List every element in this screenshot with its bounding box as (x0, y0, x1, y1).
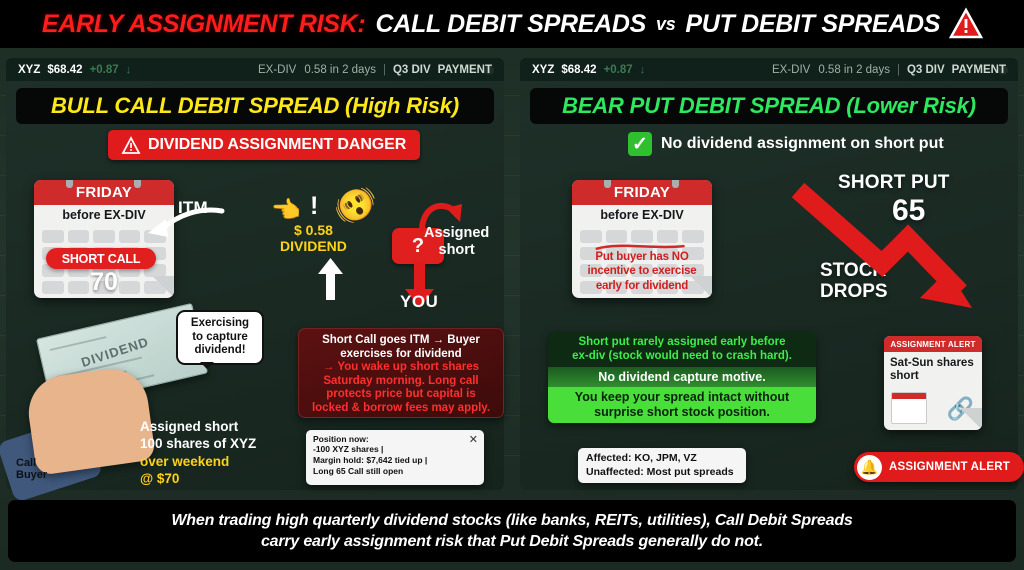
ticker-symbol: XYZ (532, 64, 554, 76)
assigned-short-label: Assigned short (424, 225, 489, 259)
assignment-alert-body: Sat-Sun shares short (884, 352, 982, 388)
ticker-price: $68.42 (47, 64, 82, 76)
assignment-alert-pill-label: ASSIGNMENT ALERT (889, 461, 1010, 473)
warning-triangle-icon (122, 137, 140, 154)
affected-tickers-box: Affected: KO, JPM, VZ Unaffected: Most p… (578, 448, 746, 483)
page-fold-icon (152, 276, 174, 298)
mini-calendar-icon (891, 392, 927, 424)
question-mark: ? (412, 235, 424, 258)
warning-triangle-icon (950, 9, 982, 39)
page-fold-icon (960, 408, 982, 430)
greenbox-top: Short put rarely assigned early before e… (548, 332, 816, 367)
alert-line-2: short (890, 370, 976, 383)
exclamation-mark: ! (310, 192, 318, 221)
dividend-word: DIVIDEND (280, 238, 347, 254)
left-ticker-bar: XYZ $68.42 +0.87 ↓ EX-DIV 0.58 in 2 days… (6, 58, 504, 82)
put-safety-explanation: Short put rarely assigned early before e… (548, 332, 816, 423)
page-fold-icon (690, 276, 712, 298)
right-ticker-bar: XYZ $68.42 +0.87 ↓ EX-DIV 0.58 in 2 days… (520, 58, 1018, 82)
stock-drop-arrow-icon (790, 180, 980, 320)
redbox-line-2: exercises for dividend (305, 348, 497, 362)
left-header-label: BULL CALL DEBIT SPREAD (High Risk) (51, 93, 459, 119)
redbox-line-5: protects price but capital is (305, 388, 497, 402)
calendar-day: FRIDAY (572, 180, 712, 205)
ticker-exdiv-label: EX-DIV (258, 64, 296, 76)
ticker-separator: | (383, 64, 386, 76)
assignment-alert-title: ASSIGNMENT ALERT (884, 336, 982, 352)
unaffected-line: Unaffected: Most put spreads (586, 466, 738, 480)
alert-line-1: Sat-Sun shares (890, 357, 976, 370)
footer-line-2: carry early assignment risk that Put Deb… (261, 533, 763, 550)
greenbox-middle: No dividend capture motive. (548, 367, 816, 387)
ticker-status-dot-icon (484, 65, 494, 75)
call-buyer-line1: Call (16, 458, 47, 470)
footer-caption: When trading high quarterly dividend sto… (8, 500, 1016, 562)
bell-icon: 🔔 (857, 455, 882, 480)
footer-text: When trading high quarterly dividend sto… (171, 510, 852, 552)
ticker-exdiv-group: EX-DIV 0.58 in 2 days (772, 64, 890, 76)
redbox-line-4: Saturday morning. Long call (305, 375, 497, 389)
greenbox-line-1: Short put rarely assigned early before (554, 336, 810, 350)
redbox-line-6: locked & borrow fees may apply. (305, 402, 497, 416)
check-mark-icon: ✓ (628, 132, 652, 156)
assigned-line-1: Assigned short (140, 418, 256, 435)
put-note-line-3: early for dividend (578, 279, 706, 293)
title-red-text: EARLY ASSIGNMENT RISK: (42, 10, 366, 39)
greenbox-line-4: You keep your spread intact without (554, 390, 810, 405)
position-line-3: Long 65 Call still open (313, 466, 477, 477)
ticker-exdiv-value: 0.58 in 2 days (304, 64, 376, 76)
ticker-exdiv-group: EX-DIV 0.58 in 2 days (258, 64, 376, 76)
itm-label: ITM (178, 198, 208, 218)
right-panel-header: BEAR PUT DEBIT SPREAD (Lower Risk) (530, 88, 1008, 124)
position-line-2: Margin hold: $7,642 tied up | (313, 455, 477, 466)
assigned-short-summary: Assigned short 100 shares of XYZ over we… (140, 418, 256, 487)
close-icon[interactable]: ✕ (469, 433, 478, 446)
calendar-subtitle: before EX-DIV (572, 208, 712, 222)
assigned-short-line1: Assigned (424, 225, 489, 242)
ticker-exdiv-label: EX-DIV (772, 64, 810, 76)
you-label: YOU (400, 292, 438, 312)
greenbox-bottom: You keep your spread intact without surp… (548, 387, 816, 423)
redbox-line-1: Short Call goes ITM → Buyer (305, 334, 497, 348)
no-assignment-label: No dividend assignment on short put (661, 135, 944, 153)
assigned-line-2: 100 shares of XYZ (140, 435, 256, 452)
assigned-short-line2: short (424, 242, 489, 259)
ticker-change: +0.87 (604, 64, 633, 76)
dividend-assignment-danger-badge: DIVIDEND ASSIGNMENT DANGER (108, 130, 420, 160)
assignment-alert-card: ASSIGNMENT ALERT Sat-Sun shares short 🔗 (884, 336, 982, 430)
call-buyer-label: Call Buyer (16, 458, 47, 481)
ticker-arrow-icon: ↓ (640, 64, 646, 76)
right-calendar-card: FRIDAY before EX-DIV Put buyer has NO in… (572, 180, 712, 298)
ticker-status-dot-icon (998, 65, 1008, 75)
assigned-line-3: over weekend (140, 453, 256, 470)
call-buyer-line2: Buyer (16, 470, 47, 482)
affected-line: Affected: KO, JPM, VZ (586, 452, 738, 466)
position-line-1: -100 XYZ shares | (313, 444, 477, 455)
redbox-line-3: → You wake up short shares (305, 361, 497, 375)
assignment-alert-pill: 🔔 ASSIGNMENT ALERT (854, 452, 1024, 482)
title-white-a: CALL DEBIT SPREADS (375, 10, 646, 39)
dividend-amount-label: $ 0.58 DIVIDEND (280, 222, 347, 254)
ticker-price: $68.42 (561, 64, 596, 76)
short-call-itm-explanation: Short Call goes ITM → Buyer exercises fo… (298, 328, 504, 418)
left-panel-header: BULL CALL DEBIT SPREAD (High Risk) (16, 88, 494, 124)
calendar-ring-icon (66, 180, 73, 188)
infographic-stage: 126.00 150.00 140.00 168.00 130.00 120.0… (0, 0, 1024, 570)
calendar-ring-icon (604, 180, 611, 188)
pointing-hand-icon: 👉 (272, 196, 302, 225)
greenbox-line-5: surprise short stock position. (554, 405, 810, 420)
put-buyer-note: Put buyer has NO incentive to exercise e… (578, 250, 706, 293)
dividend-up-arrow-icon (316, 258, 344, 300)
put-note-line-1: Put buyer has NO (578, 250, 706, 264)
put-note-line-2: incentive to exercise (578, 264, 706, 278)
ticker-change: +0.87 (90, 64, 119, 76)
dividend-amount: $ 0.58 (280, 222, 347, 238)
ticker-arrow-icon: ↓ (126, 64, 132, 76)
calendar-ring-icon (672, 180, 679, 188)
page-title: EARLY ASSIGNMENT RISK: CALL DEBIT SPREAD… (0, 0, 1024, 48)
danger-badge-label: DIVIDEND ASSIGNMENT DANGER (148, 136, 406, 154)
greenbox-line-2: ex-div (stock would need to crash hard). (554, 350, 810, 364)
exercising-speech-bubble: Exercising to capture dividend! (176, 310, 264, 365)
ticker-quarter: Q3 DIV (907, 64, 945, 76)
ticker-quarter: Q3 DIV (393, 64, 431, 76)
assigned-line-4: @ $70 (140, 470, 256, 487)
no-assignment-badge: ✓ No dividend assignment on short put (628, 132, 944, 156)
title-white-b: PUT DEBIT SPREADS (685, 10, 940, 39)
ticker-exdiv-value: 0.58 in 2 days (818, 64, 890, 76)
title-vs: vs (656, 14, 675, 35)
position-now-dialog: Position now: ✕ -100 XYZ shares | Margin… (306, 430, 484, 485)
calendar-ring-icon (134, 180, 141, 188)
position-dialog-title: Position now: (313, 434, 477, 444)
right-header-label: BEAR PUT DEBIT SPREAD (Lower Risk) (562, 93, 976, 119)
short-call-tag: SHORT CALL (46, 248, 156, 269)
ticker-symbol: XYZ (18, 64, 40, 76)
ticker-separator: | (897, 64, 900, 76)
shocked-face-icon: 🫨 (334, 186, 376, 226)
footer-line-1: When trading high quarterly dividend sto… (171, 512, 852, 529)
calendar-day: FRIDAY (34, 180, 174, 205)
